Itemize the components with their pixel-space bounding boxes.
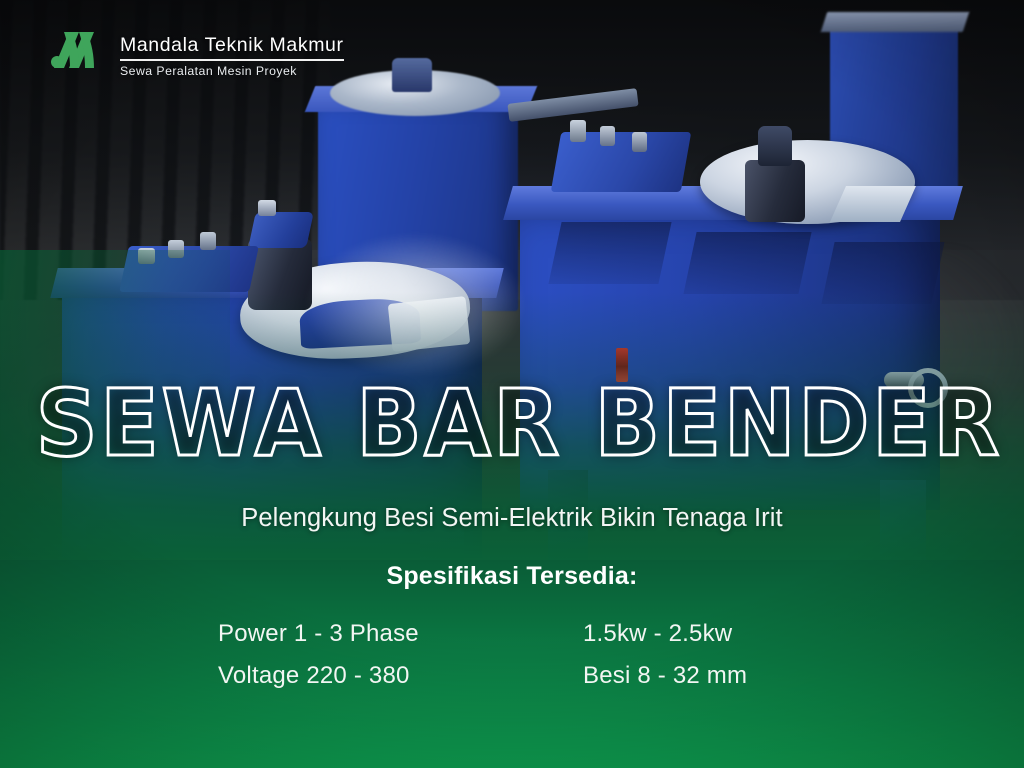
brand-tagline: Sewa Peralatan Mesin Proyek bbox=[120, 64, 344, 78]
promo-poster: Mandala Teknik Makmur Sewa Peralatan Mes… bbox=[0, 0, 1024, 768]
right-machine-leg bbox=[548, 470, 588, 620]
right-machine-roller-cap bbox=[758, 126, 792, 166]
spec-kw: 1.5kw - 2.5kw bbox=[583, 620, 818, 648]
spec-voltage: Voltage 220 - 380 bbox=[218, 662, 583, 690]
right-machine-bolt bbox=[632, 132, 647, 152]
brand-text-block: Mandala Teknik Makmur Sewa Peralatan Mes… bbox=[120, 34, 344, 78]
spec-heading: Spesifikasi Tersedia: bbox=[0, 562, 1024, 591]
right-machine-roller bbox=[745, 160, 805, 222]
brand-lockup: Mandala Teknik Makmur Sewa Peralatan Mes… bbox=[48, 28, 344, 84]
far-machine-deck bbox=[821, 12, 969, 32]
right-machine-panel-2 bbox=[683, 232, 811, 294]
right-machine-bolt bbox=[600, 126, 615, 146]
left-machine-guard bbox=[388, 296, 471, 352]
left-machine-bolt bbox=[258, 200, 276, 216]
right-machine-panel-3 bbox=[821, 242, 944, 304]
page-subtitle: Pelengkung Besi Semi-Elektrik Bikin Tena… bbox=[0, 504, 1024, 533]
left-machine-hub-cap bbox=[248, 212, 314, 248]
rear-machine-hub bbox=[392, 58, 432, 92]
left-machine-bolt bbox=[168, 240, 184, 258]
left-machine-bolt bbox=[200, 232, 216, 250]
right-machine-panel-1 bbox=[548, 222, 671, 284]
spec-grid: Power 1 - 3 Phase 1.5kw - 2.5kw Voltage … bbox=[218, 620, 818, 690]
brand-divider bbox=[120, 59, 344, 61]
spec-power: Power 1 - 3 Phase bbox=[218, 620, 583, 648]
spec-besi: Besi 8 - 32 mm bbox=[583, 662, 818, 690]
right-machine-bolt bbox=[570, 120, 586, 142]
brand-name: Mandala Teknik Makmur bbox=[120, 34, 344, 56]
left-machine-bolt bbox=[138, 248, 155, 264]
mandala-m-logo-icon bbox=[48, 28, 106, 84]
page-title: SEWA BAR BENDER bbox=[36, 378, 988, 470]
